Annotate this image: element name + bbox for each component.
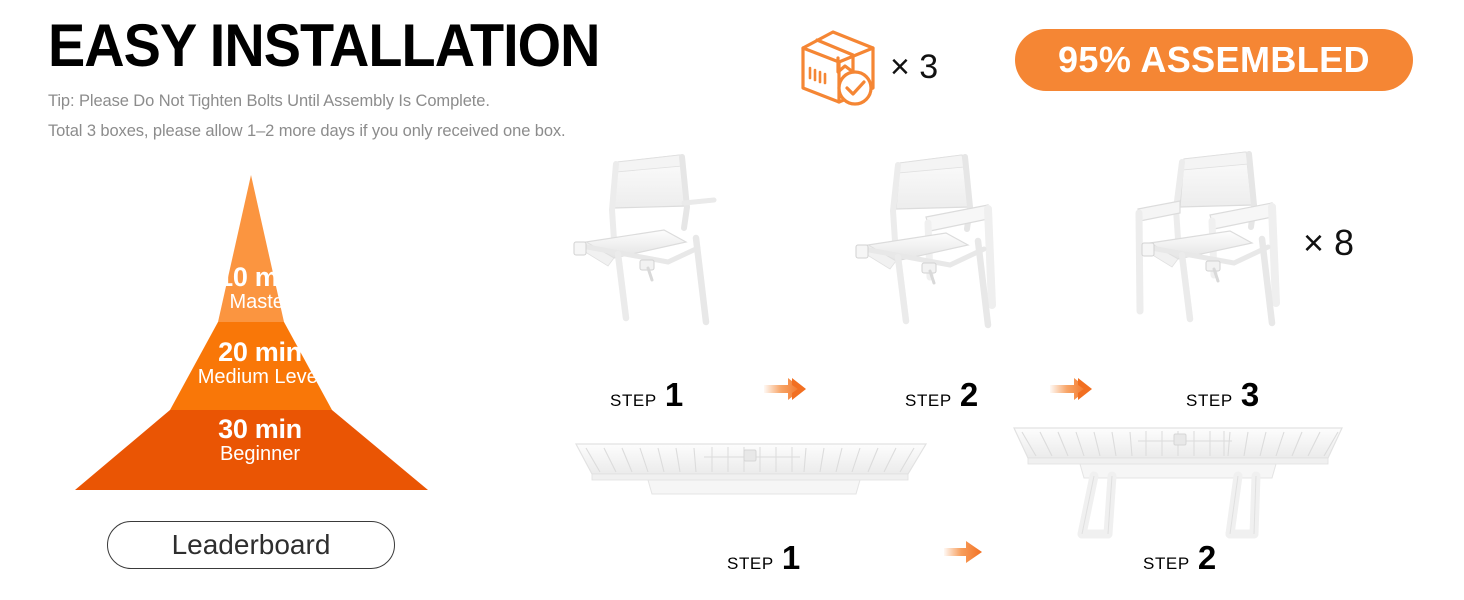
double-chevron-arrow-icon bbox=[762, 374, 810, 409]
chair-step-3-label: STEP 3 bbox=[1186, 378, 1259, 411]
pyramid-tier-master bbox=[218, 175, 284, 322]
leaderboard-button[interactable]: Leaderboard bbox=[107, 521, 395, 569]
pyramid-tier-beginner bbox=[75, 410, 428, 490]
chair-step-3-image bbox=[1118, 145, 1313, 370]
package-check-icon bbox=[793, 28, 883, 108]
tip-line-1: Tip: Please Do Not Tighten Bolts Until A… bbox=[48, 92, 490, 111]
chair-step-1-image bbox=[556, 150, 746, 370]
chair-step-2-image bbox=[838, 145, 1033, 370]
installation-infographic: EASY INSTALLATION Tip: Please Do Not Tig… bbox=[0, 0, 1464, 600]
table-step-2-label: STEP 2 bbox=[1143, 541, 1216, 574]
chair-step-2-label: STEP 2 bbox=[905, 378, 978, 411]
arrow-right-icon bbox=[942, 538, 986, 571]
chair-quantity-label: × 8 bbox=[1303, 222, 1354, 264]
box-quantity-label: × 3 bbox=[890, 48, 938, 87]
page-title: EASY INSTALLATION bbox=[48, 16, 600, 76]
table-step-1-image bbox=[570, 432, 930, 517]
difficulty-pyramid: 10 min Master 20 min Medium Level 30 min… bbox=[60, 170, 460, 495]
status-badge: 95% ASSEMBLED bbox=[1015, 29, 1413, 91]
pyramid-tier-medium bbox=[170, 322, 332, 410]
table-step-1-label: STEP 1 bbox=[727, 541, 800, 574]
double-chevron-arrow-icon bbox=[1048, 374, 1096, 409]
table-step-2-image bbox=[1008, 414, 1348, 554]
tip-line-2: Total 3 boxes, please allow 1–2 more day… bbox=[48, 122, 566, 141]
chair-step-1-label: STEP 1 bbox=[610, 378, 683, 411]
